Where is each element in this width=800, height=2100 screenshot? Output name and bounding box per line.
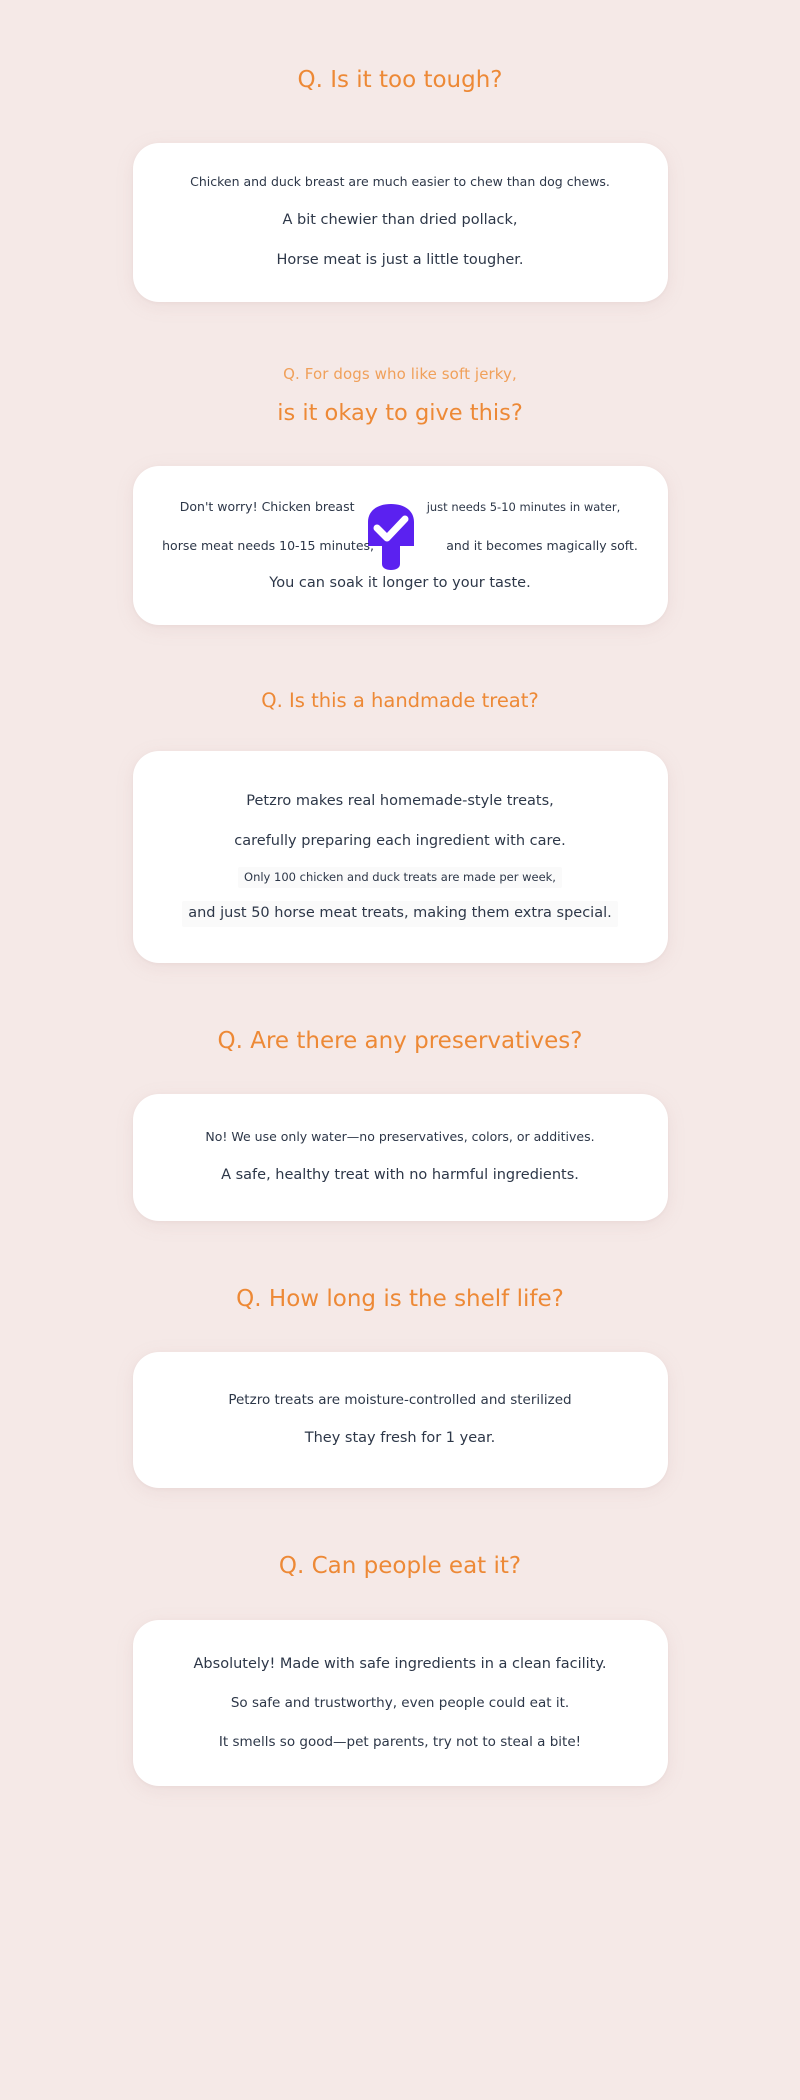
faq-answer-2-line-5: You can soak it longer to your taste. [159,573,642,595]
faq-answer-3-line-4: and just 50 horse meat treats, making th… [182,901,618,927]
line-spacer [159,1410,642,1428]
faq-page: Q. Is it too tough? Chicken and duck bre… [0,0,800,2100]
faq-item-2: Q. For dogs who like soft jerky, is it o… [0,364,800,626]
faq-question-3: Q. Is this a handmade treat? [0,687,800,715]
spacer-2-3 [0,625,800,687]
faq-answer-6-line-3: It smells so good—pet parents, try not t… [159,1732,642,1752]
faq-question-6: Q. Can people eat it? [0,1550,800,1583]
faq-question-2: Q. For dogs who like soft jerky, is it o… [0,364,800,430]
line-spacer [159,232,642,250]
line-spacer [159,1147,642,1165]
spacer-q5-a5 [0,1316,800,1352]
faq-question-2-line-2: is it okay to give this? [0,397,800,430]
spacer-5-6 [0,1488,800,1550]
line-spacer [159,888,642,901]
faq-item-3: Q. Is this a handmade treat? Petzro make… [0,687,800,963]
faq-answer-6-line-2: So safe and trustworthy, even people cou… [159,1693,642,1713]
faq-answer-card-2: Don't worry! Chicken breast just needs 5… [133,466,668,625]
spacer-q3-a3 [0,715,800,751]
faq-answer-2-line-3: horse meat needs 10-15 minutes, [162,538,374,553]
faq-item-5: Q. How long is the shelf life? Petzro tr… [0,1283,800,1488]
faq-answer-1-line-3: Horse meat is just a little tougher. [159,250,642,272]
faq-answer-card-6: Absolutely! Made with safe ingredients i… [133,1620,668,1786]
faq-answer-2-line-2: just needs 5-10 minutes in water, [427,500,621,514]
spacer-1-2 [0,302,800,364]
spacer-q4-a4 [0,1058,800,1094]
faq-answer-3-line-2: carefully preparing each ingredient with… [159,831,642,853]
faq-question-2-line-1: Q. For dogs who like soft jerky, [0,364,800,386]
spacer-4-5 [0,1221,800,1283]
faq-question-4-line-1: Q. Are there any preservatives? [0,1025,800,1058]
faq-answer-2-row-1: Don't worry! Chicken breast just needs 5… [159,496,642,517]
faq-answer-4-line-1: No! We use only water—no preservatives, … [159,1128,642,1147]
faq-answer-card-1: Chicken and duck breast are much easier … [133,143,668,301]
q-line-spacer [0,385,800,397]
spacer-q1-a1 [0,97,800,143]
faq-question-1-line-1: Q. Is it too tough? [0,64,800,97]
faq-answer-2-line-4: and it becomes magically soft. [446,538,638,553]
faq-answer-5-line-1: Petzro treats are moisture-controlled an… [159,1390,642,1410]
faq-item-6: Q. Can people eat it? Absolutely! Made w… [0,1550,800,1786]
faq-question-5: Q. How long is the shelf life? [0,1283,800,1316]
line-spacer [159,192,642,210]
line-spacer [159,853,642,866]
line-spacer [159,517,642,535]
faq-answer-6-line-1: Absolutely! Made with safe ingredients i… [159,1654,642,1676]
faq-question-3-line-1: Q. Is this a handmade treat? [0,687,800,715]
spacer-3-4 [0,963,800,1025]
faq-answer-1-line-2: A bit chewier than dried pollack, [159,210,642,232]
faq-answer-4-line-2: A safe, healthy treat with no harmful in… [159,1165,642,1187]
faq-question-5-line-1: Q. How long is the shelf life? [0,1283,800,1316]
line-spacer [159,1714,642,1732]
faq-answer-3-line-1: Petzro makes real homemade-style treats, [159,791,642,813]
faq-answer-1-line-1: Chicken and duck breast are much easier … [159,173,642,192]
faq-answer-2-row-2: horse meat needs 10-15 minutes, and it b… [159,535,642,556]
line-spacer [159,1675,642,1693]
faq-answer-3-line-3: Only 100 chicken and duck treats are mad… [238,867,562,888]
faq-item-1: Q. Is it too tough? Chicken and duck bre… [0,64,800,302]
faq-question-4: Q. Are there any preservatives? [0,1025,800,1058]
line-spacer [159,555,642,573]
top-spacer [0,2,800,64]
faq-answer-card-4: No! We use only water—no preservatives, … [133,1094,668,1221]
faq-answer-2-line-1: Don't worry! Chicken breast [180,499,355,514]
faq-item-4: Q. Are there any preservatives? No! We u… [0,1025,800,1221]
bottom-spacer [0,1786,800,1832]
spacer-q6-a6 [0,1584,800,1620]
faq-question-1: Q. Is it too tough? [0,64,800,97]
line-spacer [159,813,642,831]
badge-inline-slot [360,496,422,515]
faq-answer-card-3: Petzro makes real homemade-style treats,… [133,751,668,963]
faq-question-6-line-1: Q. Can people eat it? [0,1550,800,1583]
faq-answer-5-line-2: They stay fresh for 1 year. [159,1428,642,1450]
faq-answer-card-5: Petzro treats are moisture-controlled an… [133,1352,668,1488]
spacer-q2-a2 [0,430,800,466]
